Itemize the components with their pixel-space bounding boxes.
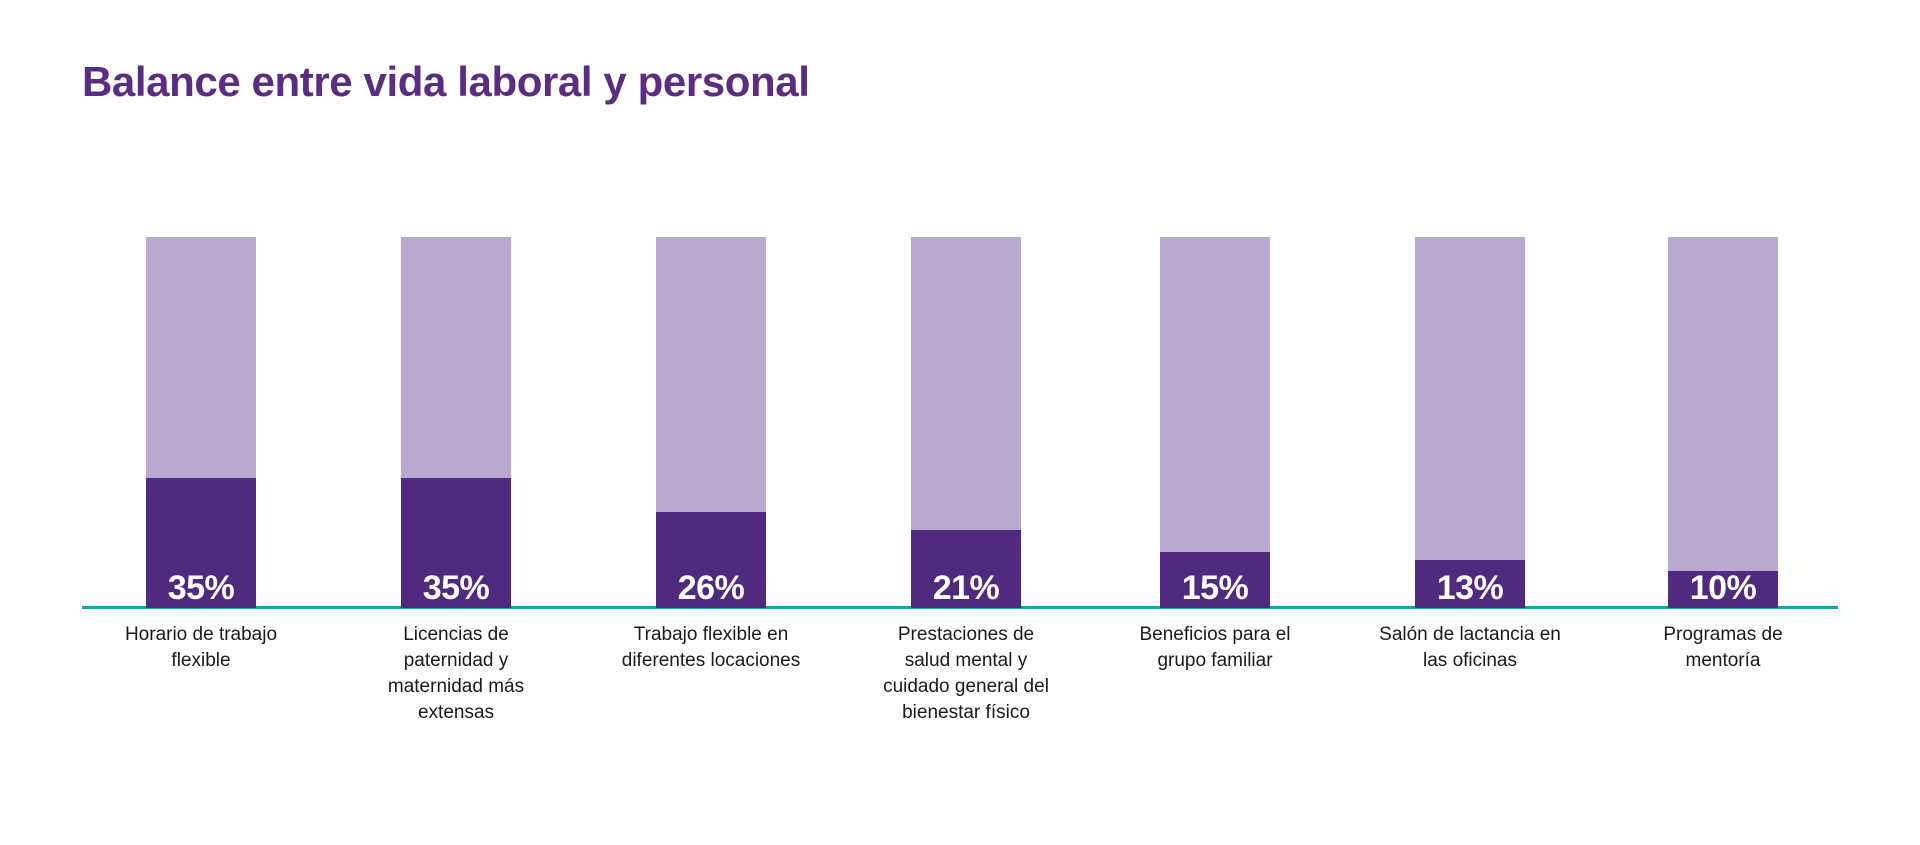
category-label-line: Prestaciones de bbox=[851, 622, 1081, 648]
bar-value-label: 26% bbox=[656, 569, 766, 607]
bar-value-label: 35% bbox=[401, 569, 511, 607]
bar-value-label: 10% bbox=[1668, 569, 1778, 607]
category-label: Trabajo flexible en diferentes locacione… bbox=[596, 622, 826, 674]
bar-group[interactable]: 15% bbox=[1160, 237, 1270, 608]
category-label-line: las oficinas bbox=[1355, 648, 1585, 674]
category-label: Licencias de paternidad y maternidad más… bbox=[341, 622, 571, 726]
category-label-line: extensas bbox=[341, 700, 571, 726]
category-label-line: Licencias de bbox=[341, 622, 571, 648]
category-label-line: Trabajo flexible en bbox=[596, 622, 826, 648]
category-label: Programas de mentoría bbox=[1608, 622, 1838, 674]
bar-track bbox=[1415, 237, 1525, 608]
category-label-line: flexible bbox=[86, 648, 316, 674]
category-label-line: cuidado general del bbox=[851, 674, 1081, 700]
category-label-line: bienestar físico bbox=[851, 700, 1081, 726]
category-label-line: maternidad más bbox=[341, 674, 571, 700]
bar-group[interactable]: 10% bbox=[1668, 237, 1778, 608]
bar-group[interactable]: 26% bbox=[656, 237, 766, 608]
category-label: Horario de trabajo flexible bbox=[86, 622, 316, 674]
category-label-line: Programas de bbox=[1608, 622, 1838, 648]
bar-track bbox=[1668, 237, 1778, 608]
bar-group[interactable]: 13% bbox=[1415, 237, 1525, 608]
category-label-line: Salón de lactancia en bbox=[1355, 622, 1585, 648]
category-label-line: Horario de trabajo bbox=[86, 622, 316, 648]
bar-value-label: 15% bbox=[1160, 569, 1270, 607]
category-label-line: salud mental y bbox=[851, 648, 1081, 674]
category-label: Beneficios para el grupo familiar bbox=[1100, 622, 1330, 674]
bar-value-label: 21% bbox=[911, 569, 1021, 607]
category-label-line: grupo familiar bbox=[1100, 648, 1330, 674]
category-label-line: paternidad y bbox=[341, 648, 571, 674]
bar-value-label: 35% bbox=[146, 569, 256, 607]
category-label-line: mentoría bbox=[1608, 648, 1838, 674]
bar-group[interactable]: 21% bbox=[911, 237, 1021, 608]
category-label-line: diferentes locaciones bbox=[596, 648, 826, 674]
category-label: Prestaciones de salud mental y cuidado g… bbox=[851, 622, 1081, 726]
bar-value-label: 13% bbox=[1415, 569, 1525, 607]
category-label-line: Beneficios para el bbox=[1100, 622, 1330, 648]
category-label: Salón de lactancia en las oficinas bbox=[1355, 622, 1585, 674]
bar-group[interactable]: 35% bbox=[146, 237, 256, 608]
bar-chart-plot-area: 35% Horario de trabajo flexible 35% Lice… bbox=[0, 0, 1920, 845]
bar-group[interactable]: 35% bbox=[401, 237, 511, 608]
